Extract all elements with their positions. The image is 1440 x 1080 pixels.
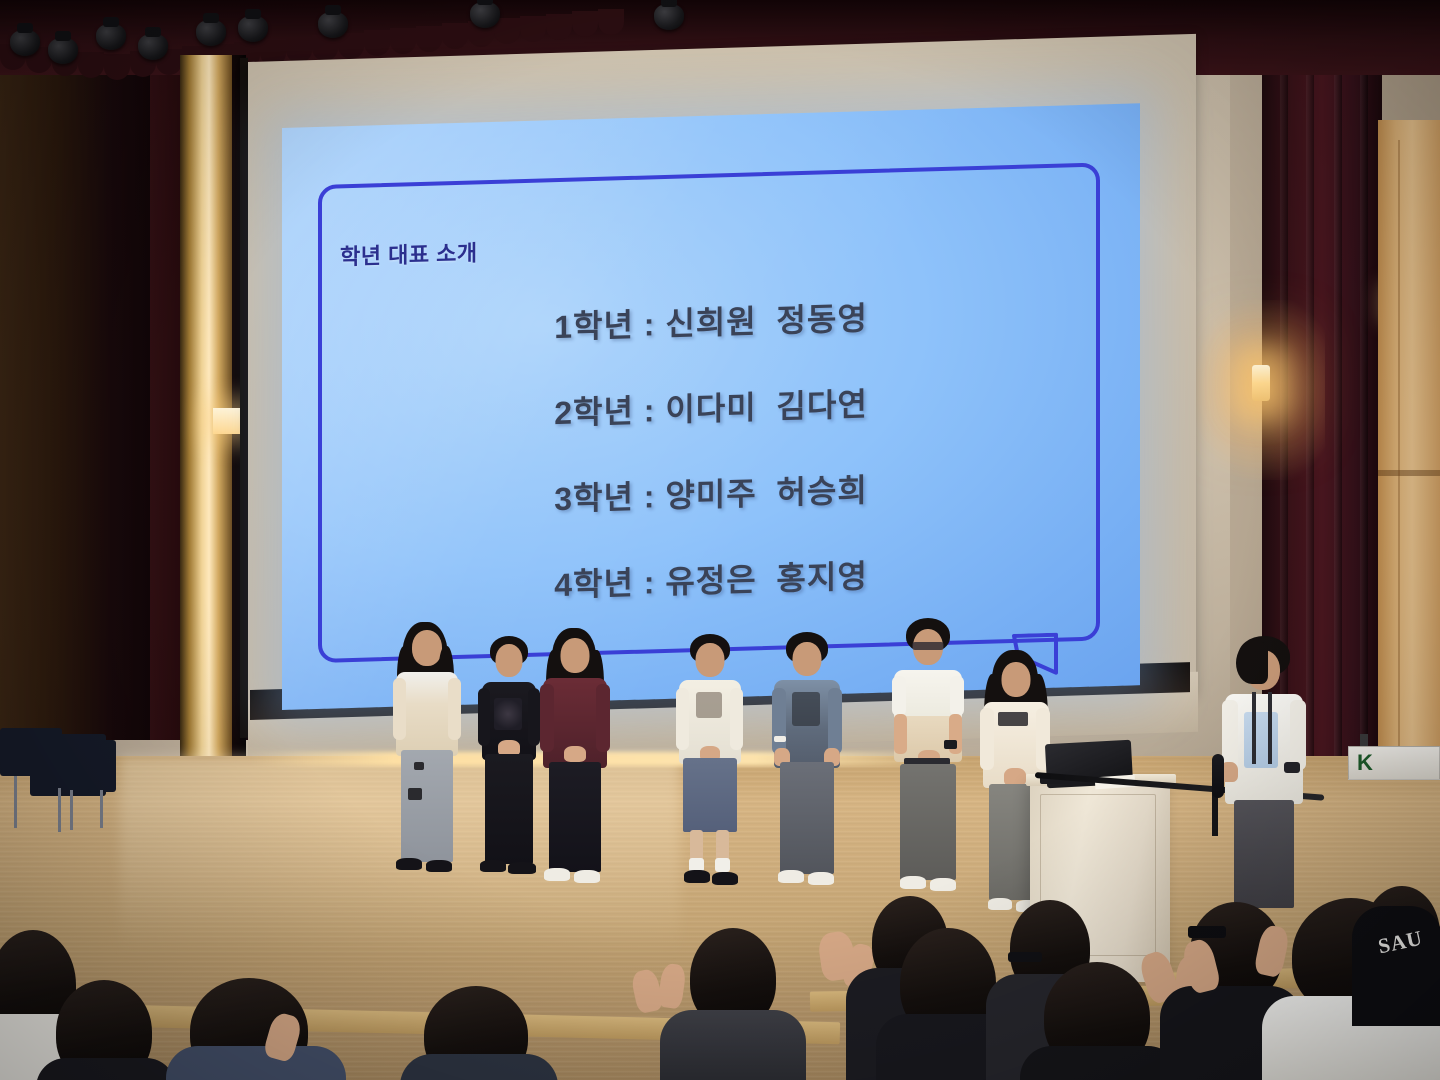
screen-frame-left xyxy=(240,58,248,738)
audience-member-body xyxy=(1352,906,1440,1026)
eyeglasses-icon xyxy=(1008,952,1042,962)
stage-light-icon xyxy=(48,38,78,64)
audience-member-body xyxy=(1020,1046,1180,1080)
venue-banner-text: K xyxy=(1357,750,1372,776)
wristwatch-icon xyxy=(1284,762,1300,773)
handheld-microphone-icon xyxy=(1212,754,1224,798)
audience-member-body xyxy=(166,1046,346,1080)
slide-title: 학년 대표 소개 xyxy=(340,235,478,271)
slide-body-lines: 1학년 : 신희원 정동영 2학년 : 이다미 김다연 3학년 : 양미주 허승… xyxy=(282,285,1140,614)
stage-light-icon xyxy=(96,24,126,50)
student-grade-rep-4 xyxy=(676,634,744,892)
wood-panel-seam xyxy=(1378,470,1440,476)
eyeglasses-icon xyxy=(1188,926,1226,938)
stage-light-icon xyxy=(318,12,348,38)
audience-member-body xyxy=(660,1010,806,1080)
slide-line-grade-2: 2학년 : 이다미 김다연 xyxy=(554,379,868,434)
stage-curtain-left-outer xyxy=(0,0,150,740)
stage-light-icon xyxy=(238,16,268,42)
gold-wall-pillar xyxy=(180,55,232,815)
stage-light-icon xyxy=(138,34,168,60)
student-grade-rep-2 xyxy=(478,636,540,886)
audience-member-body xyxy=(400,1054,558,1080)
student-grade-rep-1 xyxy=(392,620,462,880)
student-grade-rep-5 xyxy=(772,632,842,894)
student-grade-rep-6 xyxy=(892,618,964,894)
auditorium-scene: 학년 대표 소개 1학년 : 신희원 정동영 2학년 : 이다미 김다연 3학년… xyxy=(0,0,1440,1080)
wall-sconce-light-left xyxy=(213,408,243,434)
slide-line-grade-4: 4학년 : 유정은 홍지영 xyxy=(554,551,868,606)
projected-slide: 학년 대표 소개 1학년 : 신희원 정동영 2학년 : 이다미 김다연 3학년… xyxy=(282,103,1140,710)
stage-cove-light-strip xyxy=(250,752,970,766)
stage-light-icon xyxy=(470,2,500,28)
stage-light-icon xyxy=(196,20,226,46)
slide-line-grade-1: 1학년 : 신희원 정동영 xyxy=(554,293,868,348)
stage-light-icon xyxy=(654,4,684,30)
mc-student-with-microphone xyxy=(1222,636,1306,916)
student-grade-rep-3 xyxy=(540,628,610,890)
audience-member-body xyxy=(36,1058,176,1080)
wall-sconce-light-right xyxy=(1252,365,1270,401)
stage-chair xyxy=(88,740,116,792)
stage-light-icon xyxy=(10,30,40,56)
venue-banner-sign: K xyxy=(1348,746,1440,780)
slide-line-grade-3: 3학년 : 양미주 허승희 xyxy=(554,465,868,520)
